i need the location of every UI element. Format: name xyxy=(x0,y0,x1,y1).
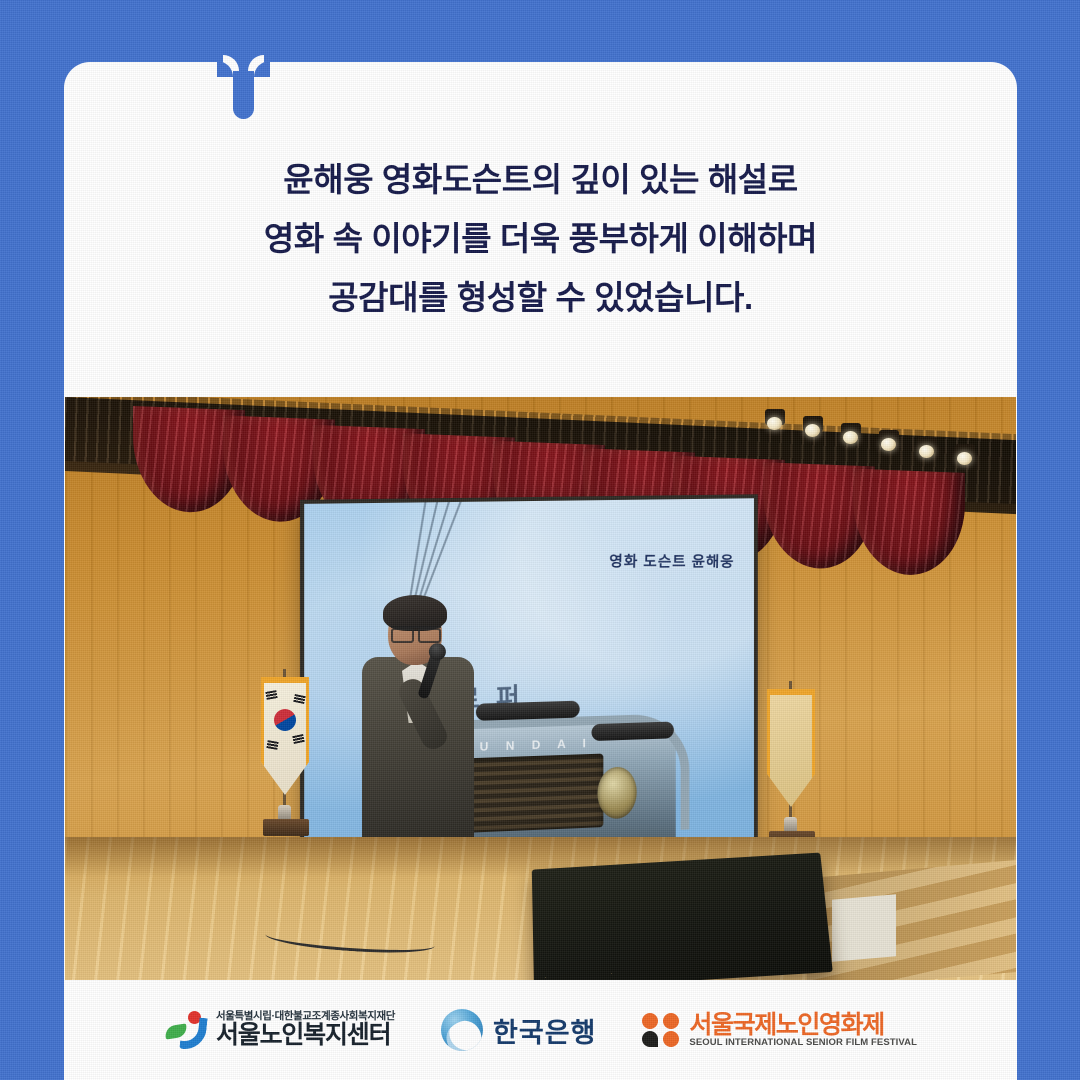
stage-lights xyxy=(765,403,1016,463)
slide-title: 영화 도슨트 윤해웅 xyxy=(609,550,735,571)
logo-bank-of-korea: 한국은행 xyxy=(441,1009,596,1051)
sisff-dots-symbol-icon xyxy=(642,1013,682,1047)
stage-monitor xyxy=(532,853,833,980)
bank-of-korea-symbol-icon xyxy=(441,1009,483,1051)
poster-canvas: 윤해웅 영화도슨트의 깊이 있는 해설로 영화 속 이야기를 더욱 풍부하게 이… xyxy=(0,0,1080,1080)
sponsor-logo-bar: 서울특별시립·대한불교조계종사회복지재단 서울노인복지센터 한국은행 서울국제노… xyxy=(64,980,1017,1080)
content-card: 윤해웅 영화도슨트의 깊이 있는 해설로 영화 속 이야기를 더욱 풍부하게 이… xyxy=(64,62,1017,1080)
logo-seoul-senior-welfare-center: 서울특별시립·대한불교조계종사회복지재단 서울노인복지센터 xyxy=(164,1009,395,1051)
event-photo: 영화 도슨트 윤해웅 갤로퍼 H Y U N D A I Galloper xyxy=(65,397,1016,980)
logo-sswc-name: 서울노인복지센터 xyxy=(216,1022,395,1049)
logo-bok-name: 한국은행 xyxy=(493,1011,596,1050)
headline-line-1: 윤해웅 영화도슨트의 깊이 있는 해설로 xyxy=(64,150,1017,209)
logo-seoul-international-senior-film-festival: 서울국제노인영화제 SEOUL INTERNATIONAL SENIOR FIL… xyxy=(642,1012,917,1048)
seoul-welfare-center-symbol-icon xyxy=(164,1009,210,1051)
headline-line-2: 영화 속 이야기를 더욱 풍부하게 이해하며 xyxy=(64,209,1017,268)
headline-line-3: 공감대를 형성할 수 있었습니다. xyxy=(64,268,1017,327)
step-plate xyxy=(832,894,896,962)
eyeglasses xyxy=(391,626,441,638)
bookmark-tab-decoration xyxy=(233,61,254,119)
page-title: 윤해웅 영화도슨트의 깊이 있는 해설로 영화 속 이야기를 더욱 풍부하게 이… xyxy=(64,150,1017,327)
logo-sisff-name-en: SEOUL INTERNATIONAL SENIOR FILM FESTIVAL xyxy=(689,1038,917,1048)
logo-sisff-name-ko: 서울국제노인영화제 xyxy=(689,1012,917,1038)
blue-swoosh-icon xyxy=(179,1016,207,1051)
